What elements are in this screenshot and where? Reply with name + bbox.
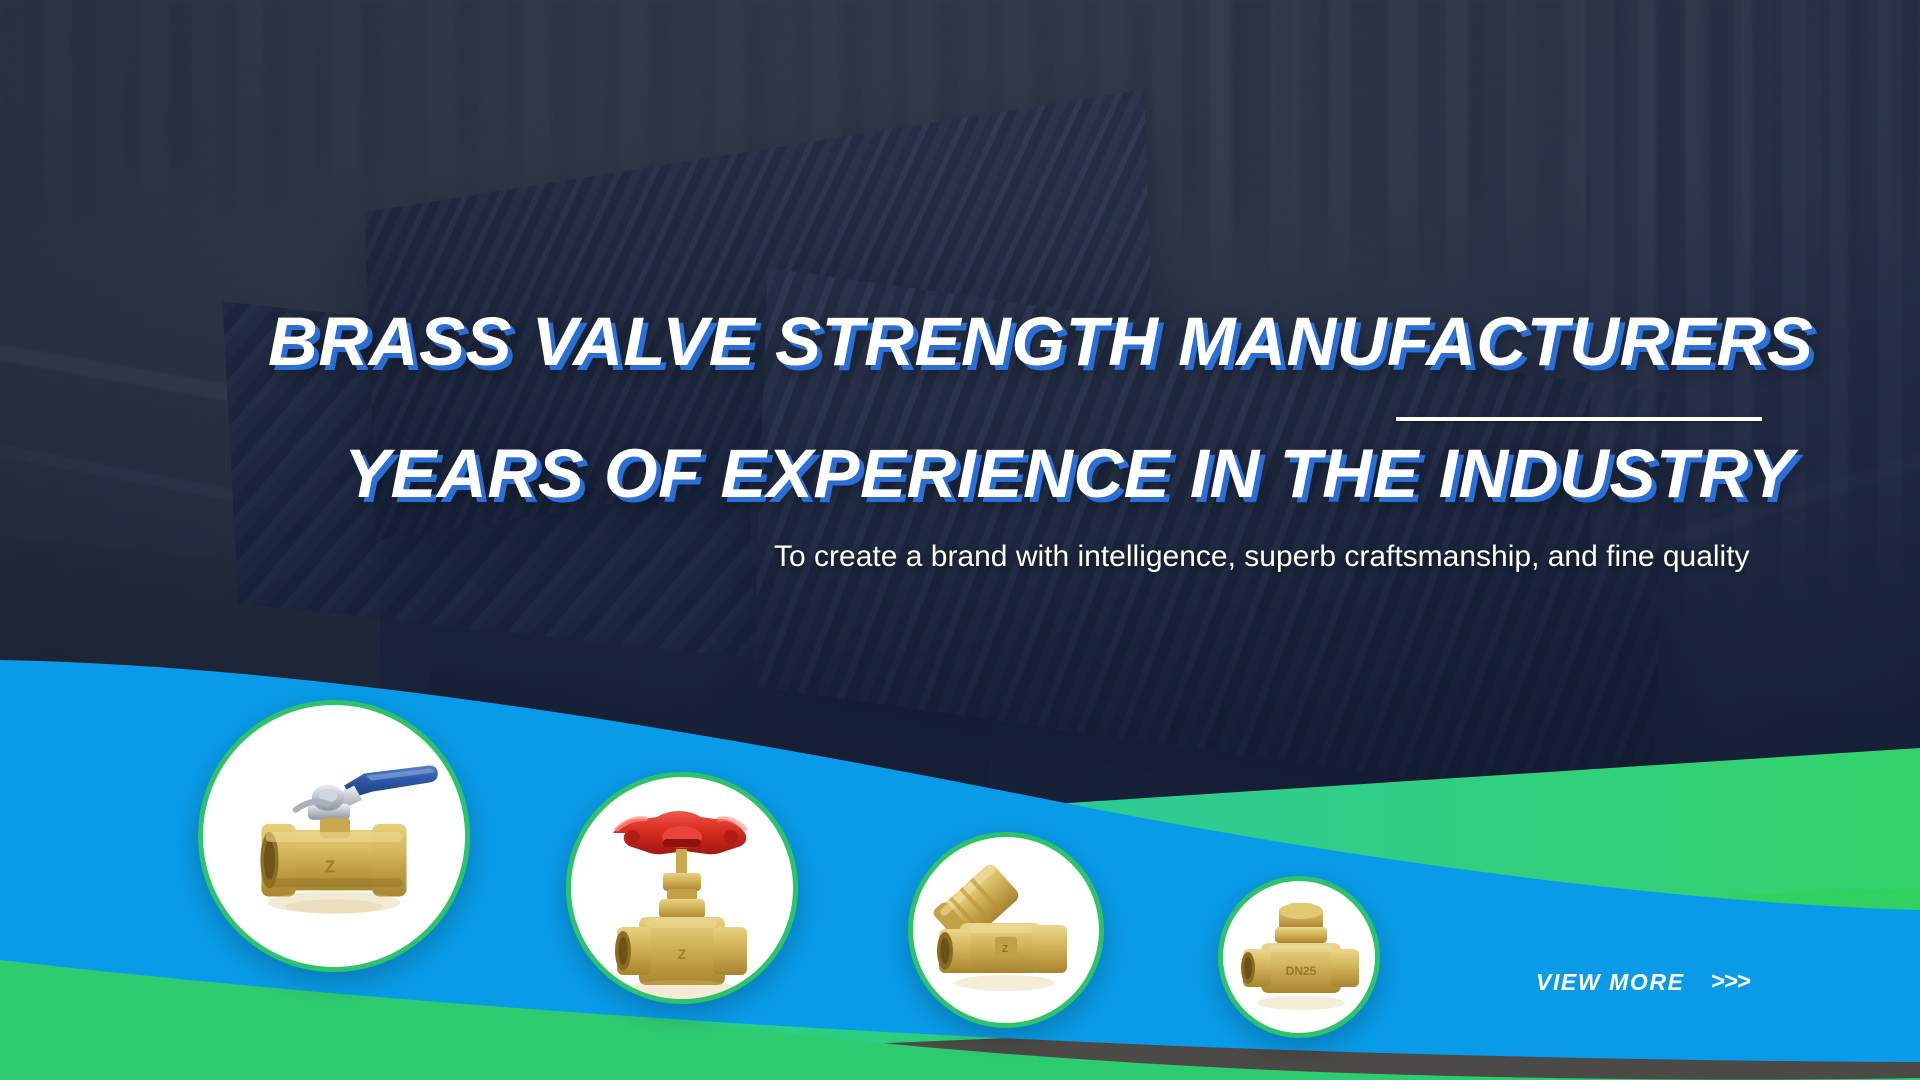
headline-divider-rule <box>1396 417 1762 421</box>
headline-line-2: YEARS OF EXPERIENCE IN THE INDUSTRY <box>344 434 1794 513</box>
gate-valve-handwheel <box>613 811 746 854</box>
bonnet-nut <box>663 873 701 891</box>
product-circle-ball-valve[interactable]: Z <box>198 700 470 972</box>
product-circle-y-strainer[interactable]: Z <box>908 832 1104 1028</box>
svg-text:Z: Z <box>678 946 687 962</box>
view-more-button[interactable]: VIEW MORE >>> <box>1536 968 1750 996</box>
valve-stem <box>676 849 687 877</box>
chevron-right-icon: >>> <box>1711 968 1750 996</box>
view-more-label: VIEW MORE <box>1536 969 1685 996</box>
bonnet <box>659 899 705 919</box>
product-circle-gate-valve[interactable]: Z <box>566 772 798 1004</box>
svg-text:Z: Z <box>1002 944 1008 955</box>
hero-subtitle: To create a brand with intelligence, sup… <box>774 540 1750 574</box>
svg-text:Z: Z <box>325 856 335 876</box>
headline-line-1: BRASS VALVE STRENGTH MANUFACTURERS <box>268 302 1813 381</box>
product-circle-check-valve[interactable]: DN25 <box>1218 876 1380 1038</box>
svg-text:DN25: DN25 <box>1286 964 1317 978</box>
bonnet <box>1275 927 1327 943</box>
hero-banner: BRASS VALVE STRENGTH MANUFACTURERS YEARS… <box>0 0 1920 1080</box>
